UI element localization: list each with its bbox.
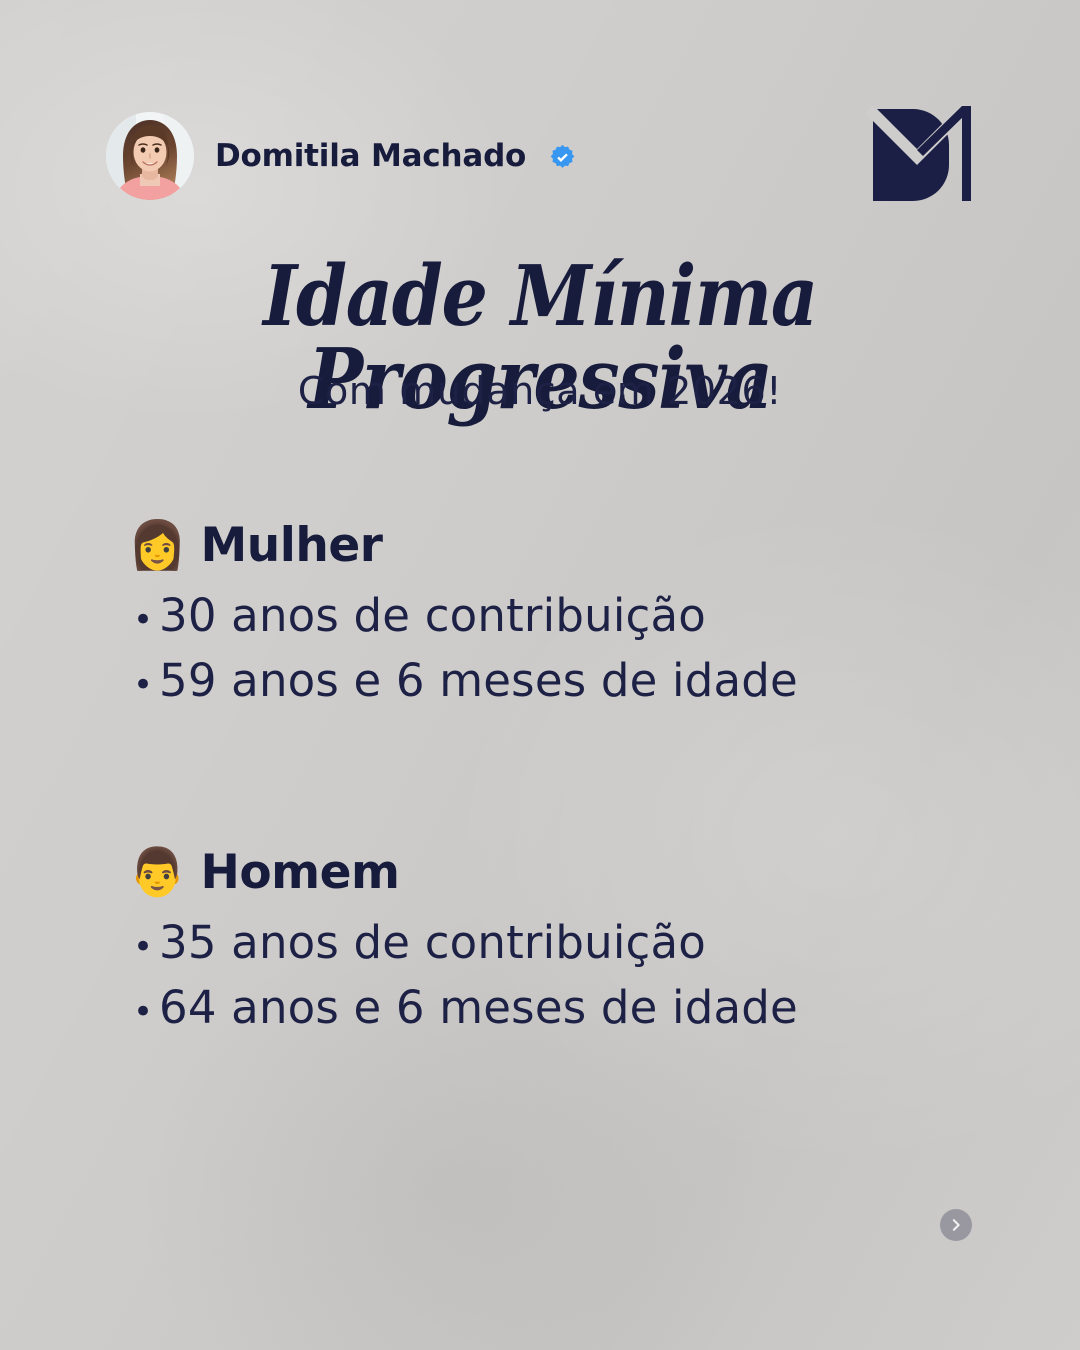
section-homem: 👨 Homem • 35 anos de contribuição • 64 a… bbox=[128, 845, 1008, 1041]
bullet-marker-icon: • bbox=[133, 668, 159, 702]
man-emoji: 👨 bbox=[128, 849, 187, 896]
list-item: • 35 anos de contribuição bbox=[133, 910, 1008, 975]
section-mulher: 👩 Mulher • 30 anos de contribuição • 59 … bbox=[128, 518, 1008, 714]
post-canvas: Domitila Machado Idade Mínima Progressiv… bbox=[0, 0, 1080, 1350]
list-item-text: 59 anos e 6 meses de idade bbox=[159, 648, 798, 713]
avatar[interactable] bbox=[106, 112, 194, 200]
page-subtitle: Com mudança em 2026! bbox=[0, 369, 1080, 413]
profile-name: Domitila Machado bbox=[215, 138, 526, 174]
list-item: • 30 anos de contribuição bbox=[133, 583, 1008, 648]
bullet-marker-icon: • bbox=[133, 603, 159, 637]
list-item-text: 35 anos de contribuição bbox=[159, 910, 706, 975]
section-label-homem: Homem bbox=[201, 845, 400, 900]
bullet-marker-icon: • bbox=[133, 930, 159, 964]
list-item-text: 30 anos de contribuição bbox=[159, 583, 706, 648]
bullet-marker-icon: • bbox=[133, 995, 159, 1029]
profile-block[interactable]: Domitila Machado bbox=[106, 112, 576, 200]
list-item-text: 64 anos e 6 meses de idade bbox=[159, 975, 798, 1040]
bullet-list-homem: • 35 anos de contribuição • 64 anos e 6 … bbox=[128, 910, 1008, 1041]
dm-monogram-logo bbox=[867, 103, 977, 207]
woman-emoji: 👩 bbox=[128, 522, 187, 569]
section-label-mulher: Mulher bbox=[201, 518, 383, 573]
bullet-list-mulher: • 30 anos de contribuição • 59 anos e 6 … bbox=[128, 583, 1008, 714]
section-heading-mulher: 👩 Mulher bbox=[128, 518, 1008, 573]
verified-badge-icon bbox=[549, 144, 576, 171]
section-heading-homem: 👨 Homem bbox=[128, 845, 1008, 900]
list-item: • 59 anos e 6 meses de idade bbox=[133, 648, 1008, 713]
chevron-right-icon bbox=[949, 1218, 963, 1232]
list-item: • 64 anos e 6 meses de idade bbox=[133, 975, 1008, 1040]
carousel-next-button[interactable] bbox=[940, 1209, 972, 1241]
